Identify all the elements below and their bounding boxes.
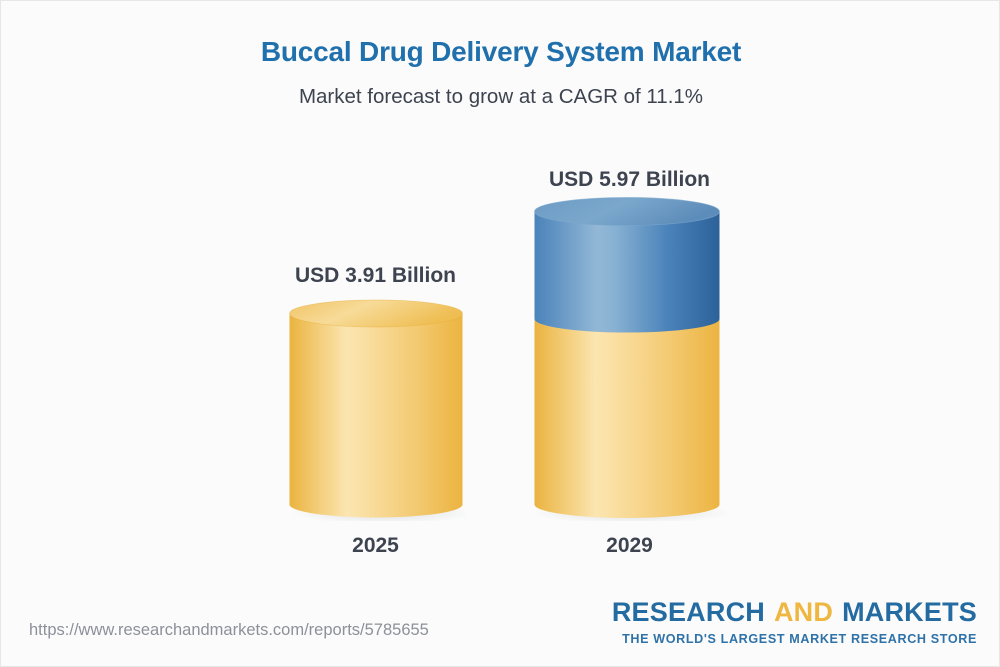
bar-value-label-2029: USD 5.97 Billion — [471, 169, 788, 190]
bar-cylinder-2025 — [287, 299, 465, 521]
brand-logo[interactable]: RESEARCHANDMARKETS THE WORLD'S LARGEST M… — [612, 599, 977, 646]
logo-word-research: RESEARCH — [612, 597, 765, 627]
cylinder-body-2025 — [290, 314, 463, 518]
cylinder-growth-body-2029 — [535, 212, 720, 333]
bar-cylinder-2029 — [532, 197, 727, 521]
report-url[interactable]: https://www.researchandmarkets.com/repor… — [29, 622, 429, 639]
logo-wordmark: RESEARCHANDMARKETS — [612, 599, 977, 626]
bar-value-label-2025: USD 3.91 Billion — [217, 265, 534, 286]
cylinder-base-body-2029 — [535, 319, 720, 518]
logo-word-markets: MARKETS — [842, 597, 977, 627]
category-label-2029: 2029 — [471, 535, 788, 556]
logo-tagline: THE WORLD'S LARGEST MARKET RESEARCH STOR… — [612, 633, 977, 646]
logo-word-and: AND — [774, 597, 833, 627]
infographic-canvas: Buccal Drug Delivery System Market Marke… — [0, 0, 1000, 667]
chart-plot-area: USD 3.91 Billion USD 5.97 Billion — [1, 1, 1000, 667]
